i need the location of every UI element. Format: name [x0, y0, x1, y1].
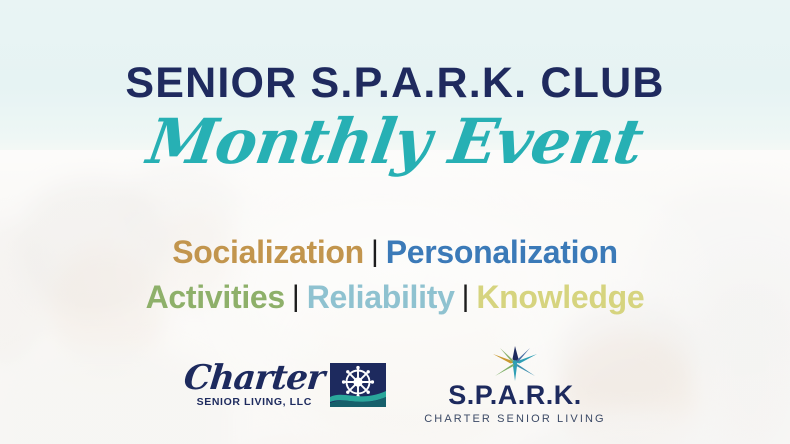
- pillar-knowledge: Knowledge: [476, 279, 644, 315]
- charter-wordmark: Charter SENIOR LIVING, LLC: [184, 362, 324, 407]
- spark-title: S.P.A.R.K.: [448, 382, 582, 409]
- pillar-separator: |: [455, 280, 477, 313]
- pillar-socialization: Socialization: [172, 234, 364, 270]
- promo-graphic: SENIOR S.P.A.R.K. CLUB Monthly Event Soc…: [0, 0, 790, 444]
- page-title: SENIOR S.P.A.R.K. CLUB: [0, 62, 790, 105]
- charter-senior-living-logo: Charter SENIOR LIVING, LLC: [184, 362, 386, 407]
- subtitle-script: Monthly Event: [0, 108, 790, 176]
- pillars-row-1: Socialization|Personalization: [0, 234, 790, 271]
- spark-subtitle: CHARTER SENIOR LIVING: [424, 413, 605, 425]
- logo-row: Charter SENIOR LIVING, LLC: [0, 340, 790, 430]
- ships-wheel-icon: [330, 363, 386, 407]
- pillar-personalization: Personalization: [386, 234, 618, 270]
- pillar-activities: Activities: [146, 279, 285, 315]
- content-layer: SENIOR S.P.A.R.K. CLUB Monthly Event Soc…: [0, 0, 790, 444]
- pillar-separator: |: [364, 235, 386, 268]
- charter-script-text: Charter: [183, 362, 326, 394]
- pillar-reliability: Reliability: [307, 279, 455, 315]
- pillars-row-2: Activities|Reliability|Knowledge: [0, 279, 790, 316]
- pillar-separator: |: [285, 280, 307, 313]
- spark-logo: S.P.A.R.K. CHARTER SENIOR LIVING: [424, 345, 605, 425]
- multicolor-star-icon: [492, 345, 538, 381]
